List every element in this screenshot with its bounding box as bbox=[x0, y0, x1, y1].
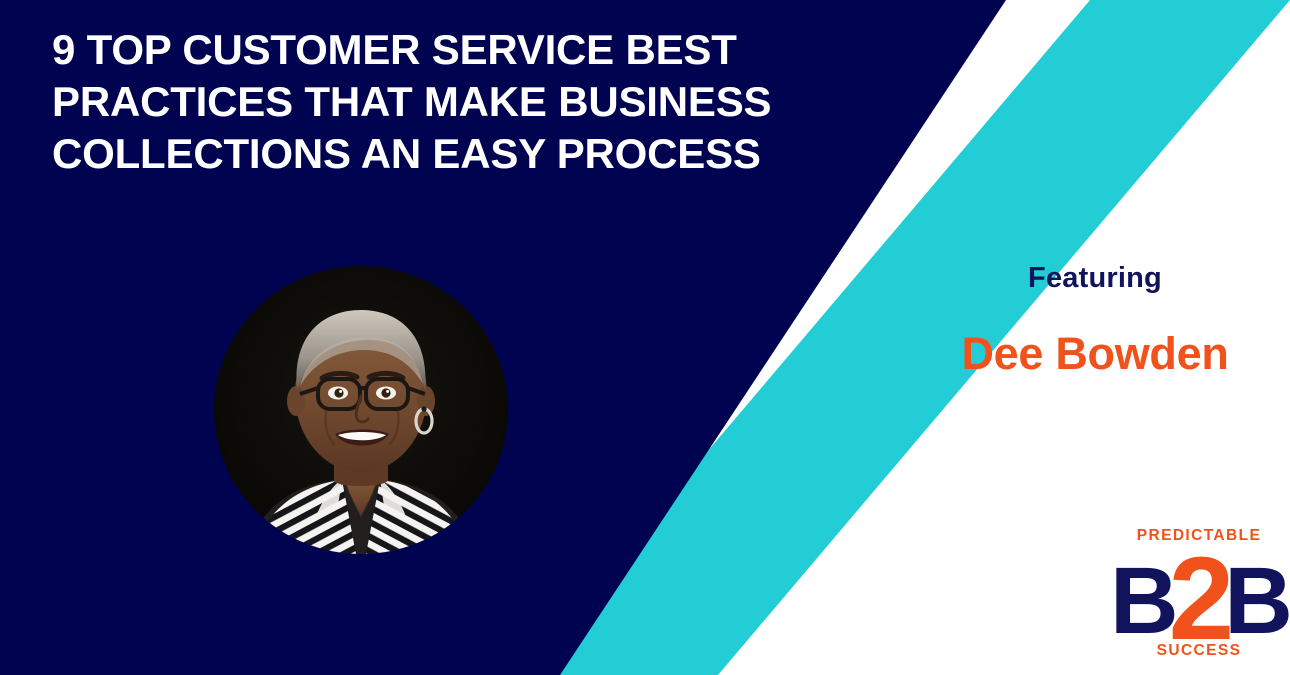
portrait-illustration bbox=[214, 266, 508, 554]
speaker-portrait bbox=[214, 266, 508, 554]
logo-letter-b-left: B bbox=[1110, 548, 1177, 654]
logo-numeral-2: 2 bbox=[1169, 533, 1233, 665]
logo-letter-b-right: B bbox=[1224, 548, 1290, 654]
speaker-name: Dee Bowden bbox=[885, 328, 1290, 380]
featuring-label: Featuring bbox=[905, 262, 1285, 295]
episode-banner: 9 TOP CUSTOMER SERVICE BEST PRACTICES TH… bbox=[0, 0, 1290, 675]
page-title: 9 TOP CUSTOMER SERVICE BEST PRACTICES TH… bbox=[52, 24, 902, 180]
logo-wordmark: B2B bbox=[1110, 545, 1288, 641]
brand-logo: PREDICTABLE B2B SUCCESS bbox=[1110, 528, 1288, 668]
